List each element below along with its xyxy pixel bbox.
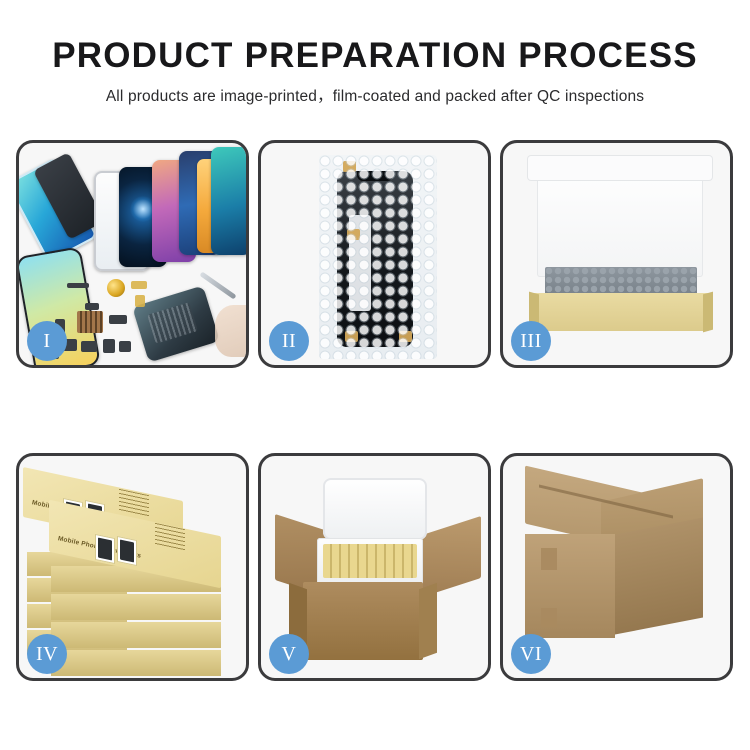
page-title: PRODUCT PREPARATION PROCESS: [0, 0, 750, 75]
small-part-5: [119, 341, 131, 352]
carton-front-face: [525, 534, 615, 638]
step-badge-4: IV: [27, 634, 67, 674]
process-step-panel-4[interactable]: Mobile Phone Spare Parts Mobile Phone Sp…: [16, 453, 249, 681]
small-part-3: [81, 341, 97, 352]
phone-back-housing: [132, 285, 220, 362]
flex-cable-2: [135, 295, 145, 307]
white-foam-sheet: [537, 159, 703, 277]
process-step-panel-5[interactable]: V: [258, 453, 491, 681]
step-badge-1: I: [27, 321, 67, 361]
process-step-panel-3[interactable]: III: [500, 140, 733, 368]
small-part-1: [67, 283, 89, 288]
small-part-8: [85, 303, 99, 310]
page-subtitle: All products are image-printed，film-coat…: [0, 75, 750, 106]
stacked-box-r3: [51, 622, 221, 648]
stacked-box-r4: [51, 650, 221, 676]
small-part-4: [103, 339, 115, 353]
yellow-boxes-inside: [323, 544, 417, 578]
yellow-box-tray: [531, 293, 711, 331]
box-window-2b: [117, 536, 137, 566]
bubble-wrap-bag: [319, 155, 437, 359]
small-part-7: [109, 315, 127, 324]
foam-box-lid: [323, 478, 427, 540]
carton-side-face: [615, 517, 703, 634]
process-step-grid: I II III: [16, 140, 734, 681]
bubble-texture: [319, 155, 437, 359]
step-badge-3: III: [511, 321, 551, 361]
page-header: PRODUCT PREPARATION PROCESS All products…: [0, 0, 750, 106]
process-step-panel-2[interactable]: II: [258, 140, 491, 368]
carton-tape-patch-1: [541, 548, 557, 570]
chip-array-part: [77, 311, 103, 333]
flex-cable-1: [131, 281, 147, 289]
process-step-panel-6[interactable]: VI: [500, 453, 733, 681]
carton-tape-patch-2: [541, 608, 557, 628]
step-badge-6: VI: [511, 634, 551, 674]
carton-body: [303, 582, 423, 660]
speaker-coil-part: [107, 279, 125, 297]
stacked-box-r2: [51, 594, 221, 620]
phone-screen-mint: [211, 147, 246, 255]
box-window-2a: [95, 534, 115, 564]
step-badge-2: II: [269, 321, 309, 361]
process-step-panel-1[interactable]: I: [16, 140, 249, 368]
technician-hand: [215, 305, 246, 357]
step-badge-5: V: [269, 634, 309, 674]
